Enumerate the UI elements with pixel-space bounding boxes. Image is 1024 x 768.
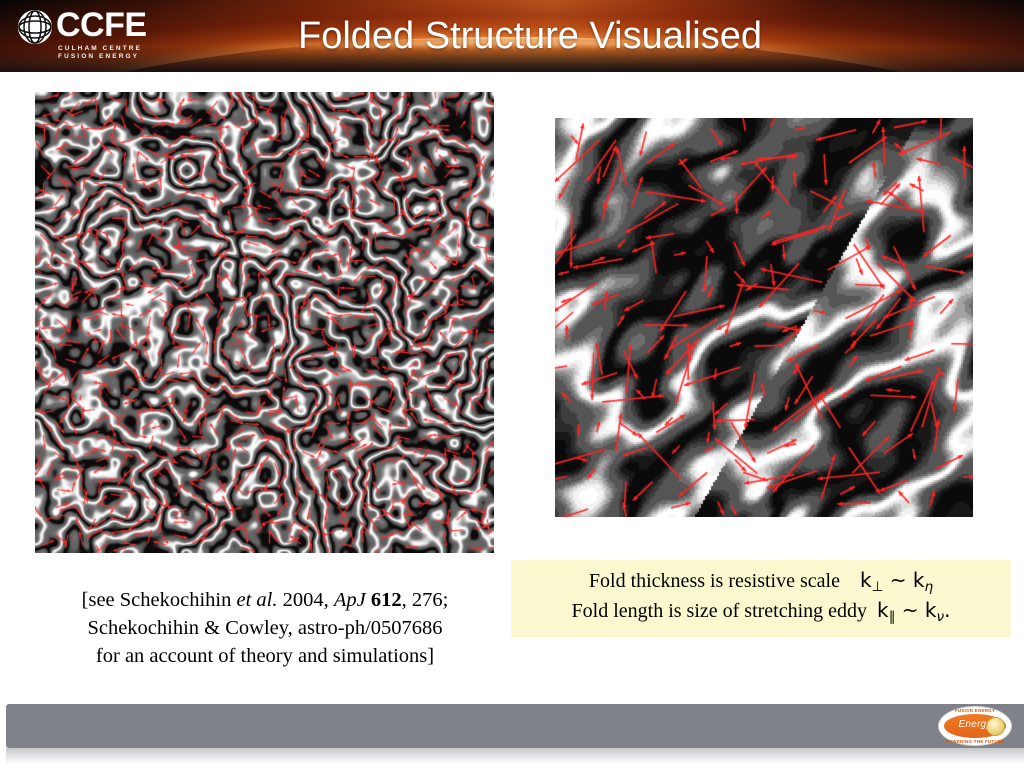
citation-line-2: Schekochihin & Cowley, astro-ph/0507686: [20, 614, 510, 642]
callout-l2-rel: ~ k: [895, 598, 936, 622]
page-title: Folded Structure Visualised: [180, 10, 880, 62]
footer-bar: [6, 704, 1024, 748]
callout-l2-k: k: [877, 598, 889, 622]
slide-header-banner: CCFE CULHAM CENTRE FUSION ENERGY Folded …: [0, 0, 1024, 72]
citation-line-3: for an account of theory and simulations…: [20, 642, 510, 670]
callout-box: Fold thickness is resistive scale k⊥ ~ k…: [511, 560, 1011, 637]
citation-l1-a: [see Schekochihin: [82, 589, 237, 611]
callout-l2-sub-nu: ν: [937, 609, 945, 625]
callout-line-1: Fold thickness is resistive scale k⊥ ~ k…: [511, 568, 1011, 595]
citation-l1-b: 2004,: [278, 589, 334, 611]
figure-right-turbulence-zoom: [555, 118, 973, 517]
callout-line1-formula: k⊥ ~ kη: [860, 568, 933, 592]
figure-left-canvas: [35, 92, 494, 553]
callout-line-2: Fold length is size of stretching eddy k…: [511, 598, 1011, 625]
slide-root: CCFE CULHAM CENTRE FUSION ENERGY Folded …: [0, 0, 1024, 768]
citation-journal: ApJ: [334, 589, 366, 611]
callout-l1-rel: ~ k: [883, 568, 924, 592]
footer-reflection: [6, 748, 1024, 764]
callout-line2-formula: k∥ ~ kν.: [877, 598, 950, 622]
callout-line2-text: Fold length is size of stretching eddy: [572, 600, 868, 622]
callout-l1-sub-eta: η: [924, 579, 933, 595]
callout-line1-text: Fold thickness is resistive scale: [589, 570, 840, 592]
ccfe-logo: CCFE CULHAM CENTRE FUSION ENERGY: [16, 6, 166, 62]
figure-left-turbulence: [35, 92, 494, 553]
logo-wordmark: CCFE: [56, 8, 147, 42]
citation-etal: et al.: [237, 589, 278, 611]
energy-badge-logo: FUSION ENERGY Energy POWERING THE FUTURE: [938, 706, 1012, 746]
logo-subtitle-line2: FUSION ENERGY: [58, 53, 139, 60]
citation-l1-c: , 276;: [402, 589, 449, 611]
citation-line-1: [see Schekochihin et al. 2004, ApJ 612, …: [20, 586, 510, 614]
badge-arc-bottom-text: POWERING THE FUTURE: [938, 739, 1012, 744]
callout-l1-sub-perp: ⊥: [872, 579, 884, 595]
citation-volume: 612: [371, 589, 402, 611]
citation-block: [see Schekochihin et al. 2004, ApJ 612, …: [20, 586, 510, 670]
badge-seal-icon: [986, 717, 1005, 736]
globe-icon: [18, 10, 52, 44]
callout-l2-period: .: [944, 598, 950, 622]
figure-right-canvas: [555, 118, 973, 517]
callout-l1-k: k: [860, 568, 872, 592]
logo-subtitle-line1: CULHAM CENTRE: [58, 45, 142, 52]
badge-arc-top-text: FUSION ENERGY: [938, 708, 1012, 713]
